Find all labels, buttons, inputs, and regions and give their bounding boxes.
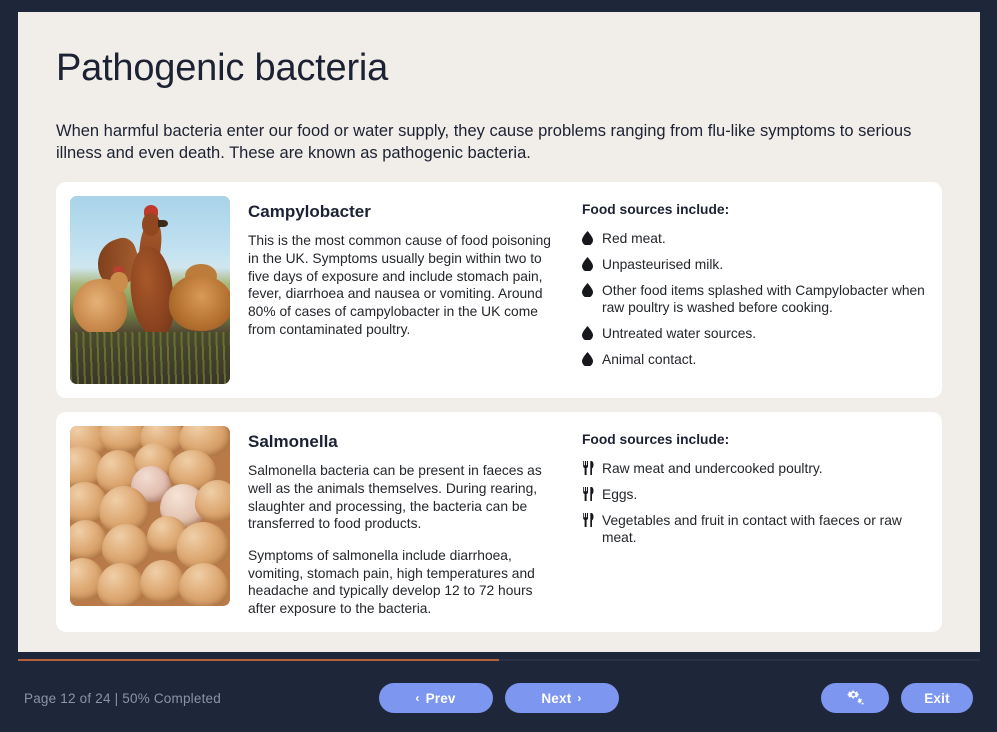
- list-item: Vegetables and fruit in contact with fae…: [582, 512, 926, 547]
- utensils-icon: [582, 512, 602, 527]
- chevron-left-icon: ‹: [415, 691, 419, 705]
- rooster-beak-shape: [158, 220, 168, 228]
- source-text: Red meat.: [602, 230, 926, 248]
- page-title: Pathogenic bacteria: [56, 48, 942, 90]
- left-hen-head-shape: [110, 272, 128, 293]
- grass-foreground: [70, 332, 230, 385]
- list-item: Eggs.: [582, 486, 926, 504]
- exit-button[interactable]: Exit: [901, 683, 973, 713]
- footer-navigation: ‹ Prev Next ›: [379, 683, 619, 713]
- salmonella-sources-title: Food sources include:: [582, 432, 926, 447]
- campylobacter-sources-list: Red meat. Unpasteurised milk. Other food…: [582, 230, 926, 368]
- prev-button-label: Prev: [426, 691, 456, 706]
- campylobacter-body: Campylobacter This is the most common ca…: [230, 196, 560, 338]
- list-item: Other food items splashed with Campyloba…: [582, 282, 926, 317]
- prev-button[interactable]: ‹ Prev: [379, 683, 493, 713]
- egg-shape: [96, 562, 147, 607]
- salmonella-paragraph-2: Symptoms of salmonella include diarrhoea…: [248, 547, 560, 618]
- chevron-right-icon: ›: [577, 691, 581, 705]
- salmonella-paragraph-1: Salmonella bacteria can be present in fa…: [248, 462, 560, 533]
- gears-icon: [846, 690, 865, 706]
- egg-shape: [140, 560, 185, 603]
- info-card-salmonella: Salmonella Salmonella bacteria can be pr…: [56, 412, 942, 631]
- salmonella-sources-list: Raw meat and undercooked poultry. Eggs. …: [582, 460, 926, 547]
- utensils-icon: [582, 486, 602, 501]
- exit-button-label: Exit: [924, 691, 950, 706]
- rooster-body-shape: [126, 245, 177, 339]
- next-button-label: Next: [541, 691, 571, 706]
- source-text: Raw meat and undercooked poultry.: [602, 460, 926, 478]
- source-text: Other food items splashed with Campyloba…: [602, 282, 926, 317]
- source-text: Animal contact.: [602, 351, 926, 369]
- salmonella-heading: Salmonella: [248, 432, 560, 452]
- utensils-icon: [582, 460, 602, 475]
- rooster-head-shape: [142, 213, 160, 236]
- water-drop-icon: [582, 351, 602, 366]
- source-text: Vegetables and fruit in contact with fae…: [602, 512, 926, 547]
- campylobacter-paragraph: This is the most common cause of food po…: [248, 232, 560, 338]
- footer-actions: Exit: [821, 683, 973, 713]
- eggs-photo-art: [70, 426, 230, 606]
- salmonella-body: Salmonella Salmonella bacteria can be pr…: [230, 426, 560, 617]
- page-status-text: Page 12 of 24 | 50% Completed: [24, 691, 221, 706]
- list-item: Red meat.: [582, 230, 926, 248]
- source-text: Untreated water sources.: [602, 325, 926, 343]
- source-text: Unpasteurised milk.: [602, 256, 926, 274]
- footer-bar: Page 12 of 24 | 50% Completed ‹ Prev Nex…: [0, 664, 997, 732]
- egg-shape: [176, 560, 230, 606]
- right-hen-shape: [167, 273, 230, 335]
- next-button[interactable]: Next ›: [505, 683, 619, 713]
- campylobacter-sources-title: Food sources include:: [582, 202, 926, 217]
- info-card-campylobacter: Campylobacter This is the most common ca…: [56, 182, 942, 398]
- list-item: Untreated water sources.: [582, 325, 926, 343]
- water-drop-icon: [582, 325, 602, 340]
- salmonella-image: [70, 426, 230, 606]
- campylobacter-sources: Food sources include: Red meat. Unpasteu…: [560, 196, 926, 368]
- water-drop-icon: [582, 282, 602, 297]
- list-item: Animal contact.: [582, 351, 926, 369]
- water-drop-icon: [582, 230, 602, 245]
- source-text: Eggs.: [602, 486, 926, 504]
- settings-button[interactable]: [821, 683, 889, 713]
- water-drop-icon: [582, 256, 602, 271]
- campylobacter-heading: Campylobacter: [248, 202, 560, 222]
- list-item: Unpasteurised milk.: [582, 256, 926, 274]
- chickens-photo-art: [70, 196, 230, 384]
- course-progress-bar: [18, 659, 980, 661]
- campylobacter-image: [70, 196, 230, 384]
- list-item: Raw meat and undercooked poultry.: [582, 460, 926, 478]
- slide-canvas: Pathogenic bacteria When harmful bacteri…: [18, 12, 980, 652]
- course-progress-fill: [18, 659, 499, 661]
- salmonella-sources: Food sources include: Raw meat and under…: [560, 426, 926, 547]
- page-intro-text: When harmful bacteria enter our food or …: [56, 120, 936, 165]
